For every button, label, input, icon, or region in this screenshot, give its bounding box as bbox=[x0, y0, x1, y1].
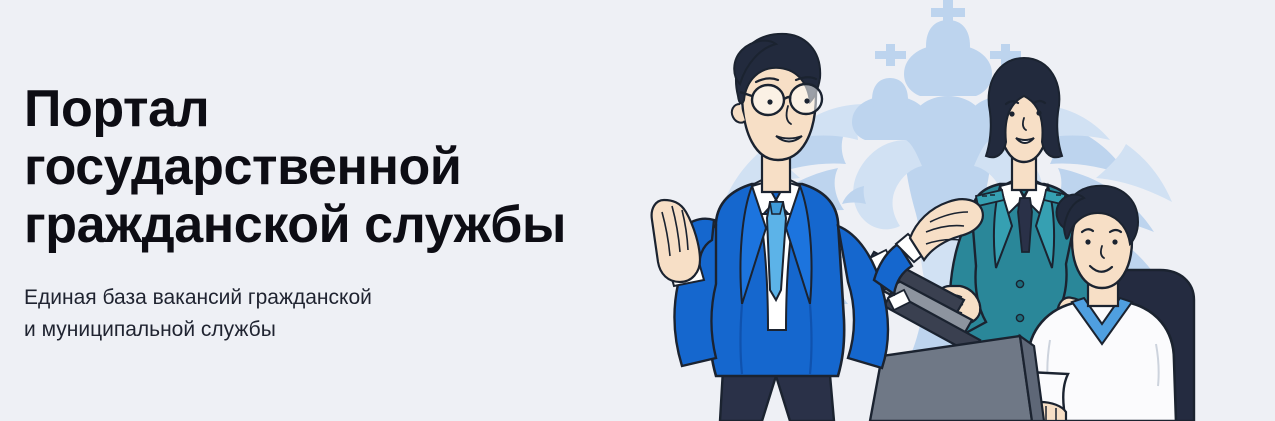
hero-text-block: Портал государственной гражданской служб… bbox=[24, 80, 644, 346]
page-subtitle: Единая база вакансий гражданской и муниц… bbox=[24, 254, 644, 346]
hero-banner: Портал государственной гражданской служб… bbox=[0, 0, 1275, 421]
page-title: Портал государственной гражданской служб… bbox=[24, 80, 644, 254]
three-civil-servants-illustration bbox=[620, 0, 1275, 421]
